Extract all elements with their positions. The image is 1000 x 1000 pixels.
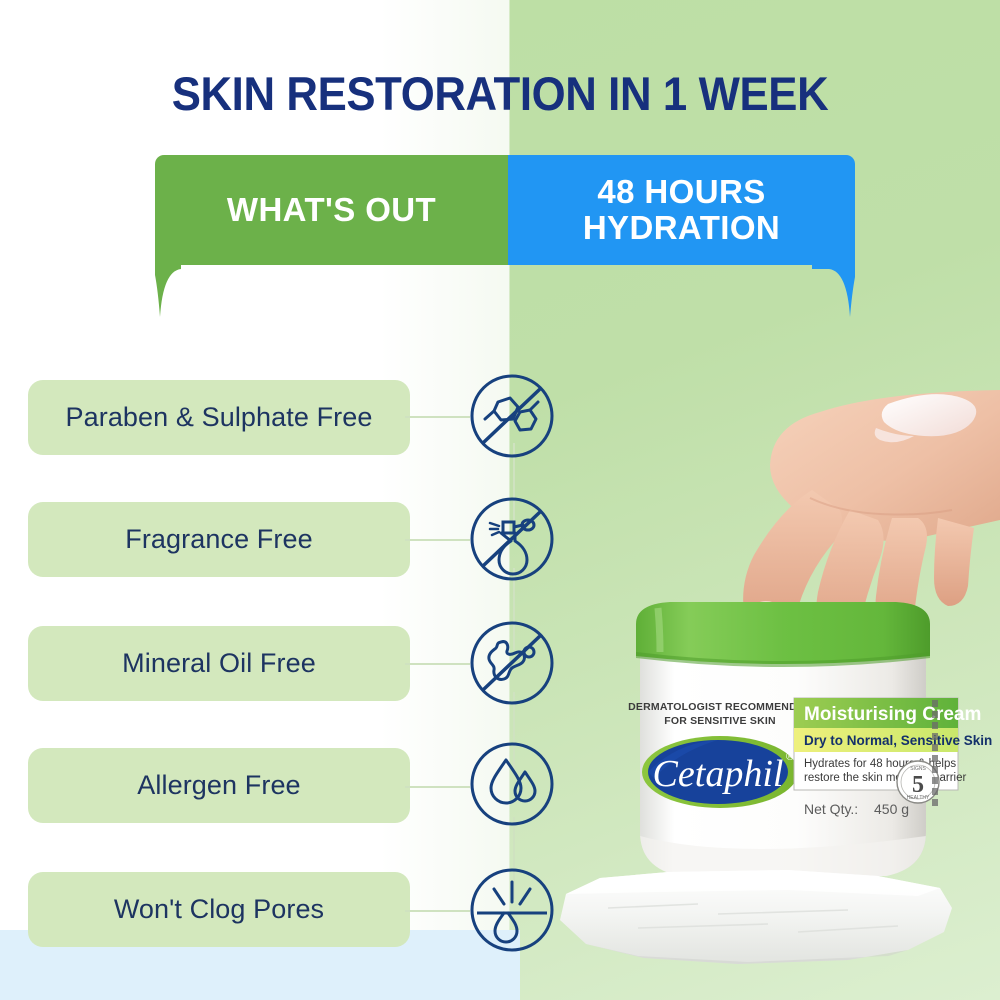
infographic-canvas: SKIN RESTORATION IN 1 WEEK WHAT'S OUT 48… [0, 0, 1000, 1000]
product-name: Moisturising Cream [804, 704, 981, 725]
connector-line-2 [405, 539, 470, 541]
feature-label: Fragrance Free [125, 524, 312, 555]
tab-hydration-line1: 48 HOURS [583, 174, 780, 210]
no-fragrance-bottle-icon [468, 495, 556, 583]
feature-pill-paraben-sulphate-free[interactable]: Paraben & Sulphate Free [28, 380, 410, 455]
no-oil-splash-icon [468, 619, 556, 707]
brand-wordmark: Cetaphil [653, 753, 784, 795]
product-skin-type: Dry to Normal, Sensitive Skin [804, 733, 992, 748]
product-benefit-line2: restore the skin moisture barrier [804, 772, 967, 784]
feature-pill-wont-clog-pores[interactable]: Won't Clog Pores [28, 872, 410, 947]
jar-claim-line1: DERMATOLOGIST RECOMMENDED [628, 701, 812, 713]
tab-whats-out[interactable]: WHAT'S OUT [155, 155, 508, 265]
connector-line-4 [405, 786, 470, 788]
stone-platform-image [548, 862, 968, 972]
feature-label: Paraben & Sulphate Free [66, 402, 373, 433]
water-droplets-icon [468, 740, 556, 828]
banner-tabs: WHAT'S OUT 48 HOURS HYDRATION [155, 155, 855, 305]
no-molecule-icon [468, 372, 556, 460]
tab-whats-out-tail [155, 265, 181, 317]
feature-pill-fragrance-free[interactable]: Fragrance Free [28, 502, 410, 577]
connector-line-3 [405, 663, 470, 665]
page-title: SKIN RESTORATION IN 1 WEEK [35, 66, 965, 121]
connector-line-5 [405, 910, 470, 912]
jar-claim-line2: FOR SENSITIVE SKIN [664, 715, 776, 727]
seal-top-text: SIGNS [910, 766, 926, 772]
feature-pill-allergen-free[interactable]: Allergen Free [28, 748, 410, 823]
feature-label: Allergen Free [137, 770, 300, 801]
feature-label: Won't Clog Pores [114, 894, 324, 925]
tab-hydration-line2: HYDRATION [583, 210, 780, 246]
tab-48-hours-hydration[interactable]: 48 HOURS HYDRATION [508, 155, 855, 265]
seal-bottom-text: HEALTHY [907, 795, 930, 801]
tab-whats-out-label: WHAT'S OUT [227, 192, 436, 228]
open-pore-icon [468, 866, 556, 954]
connector-line-1 [405, 416, 470, 418]
tab-hydration-tail [812, 265, 855, 317]
product-jar-image: DERMATOLOGIST RECOMMENDED FOR SENSITIVE … [618, 600, 948, 900]
feature-label: Mineral Oil Free [122, 648, 316, 679]
net-qty-value: 450 g [874, 801, 909, 817]
net-qty-label: Net Qty.: [804, 801, 858, 817]
brand-trademark: ® [786, 751, 794, 763]
feature-pill-mineral-oil-free[interactable]: Mineral Oil Free [28, 626, 410, 701]
